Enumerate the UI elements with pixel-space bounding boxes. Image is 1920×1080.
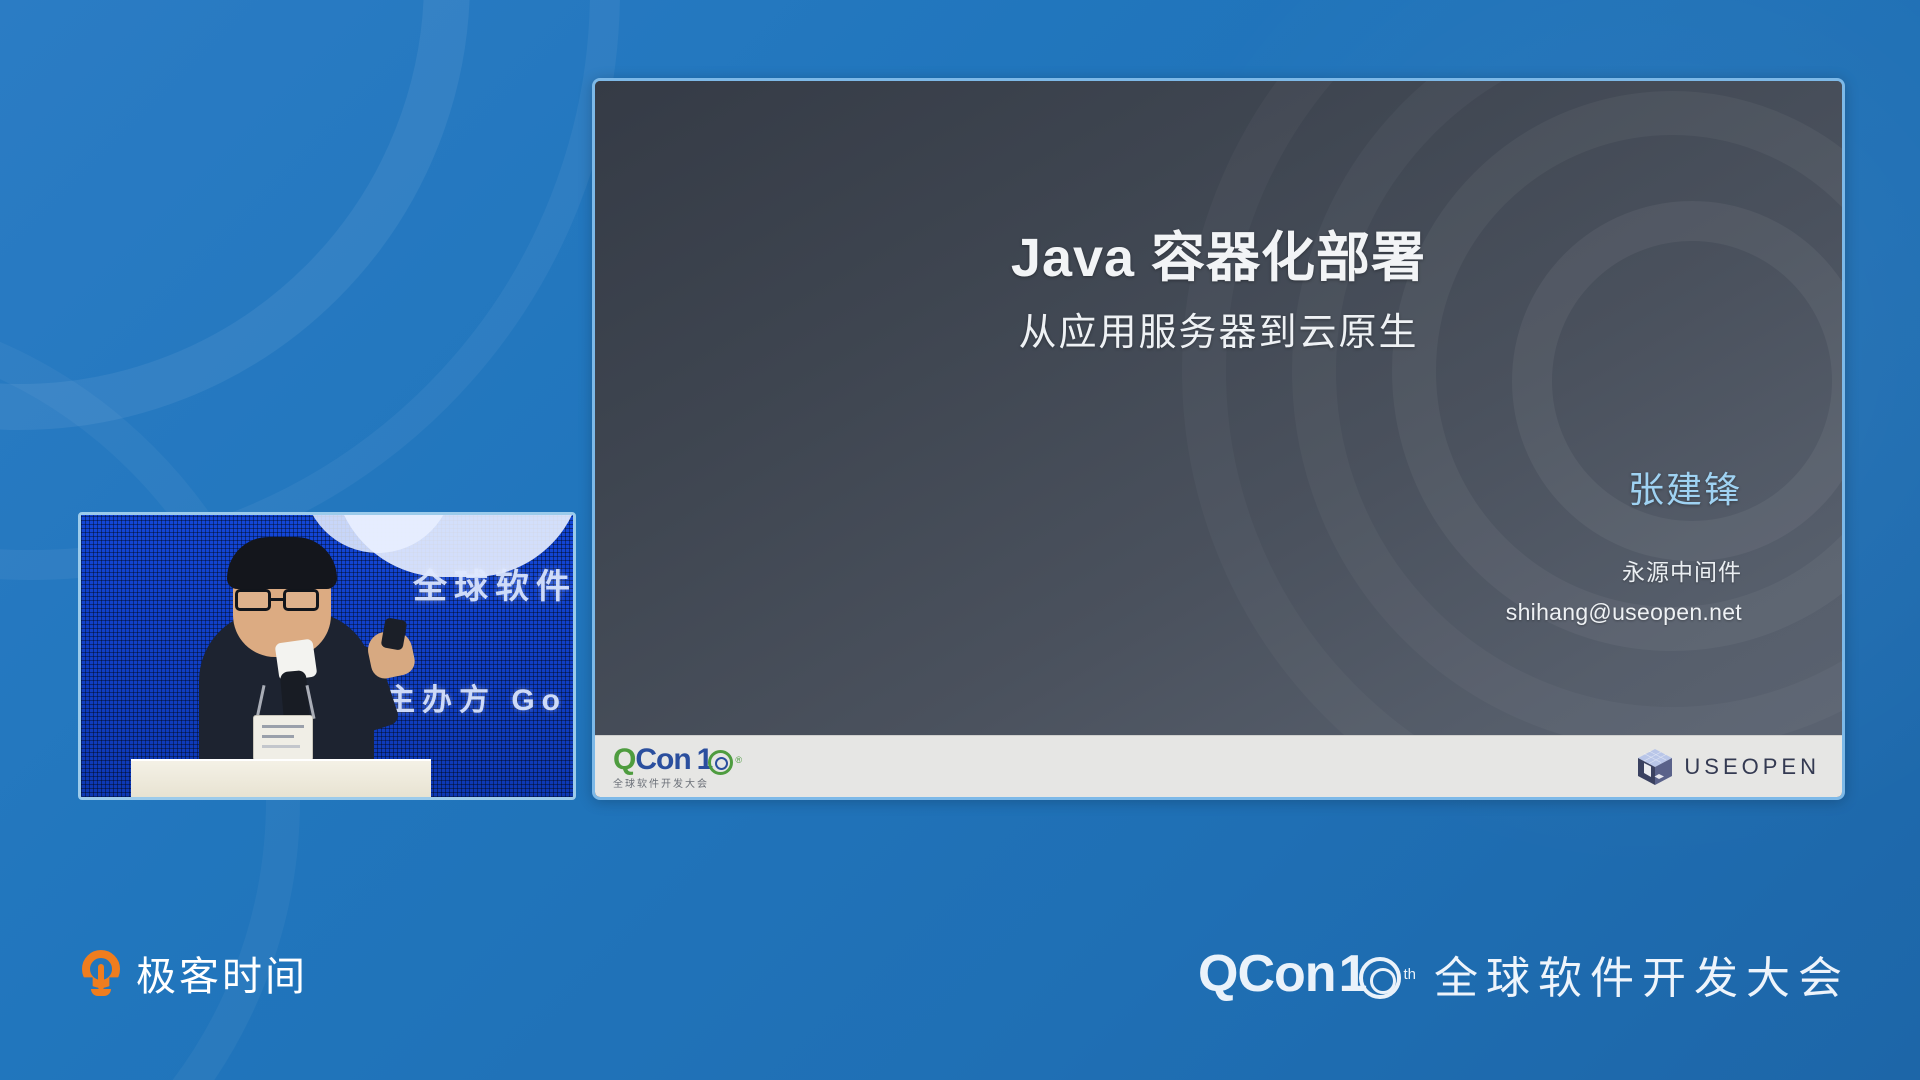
slide-subtitle: 从应用服务器到云原生 [595, 301, 1842, 356]
stage-screen-text-secondary: 主办方 Go [385, 675, 567, 719]
podium [131, 759, 431, 797]
geektime-label: 极客时间 [136, 944, 308, 1002]
registered-mark-icon: ® [735, 755, 742, 765]
speaker-badge [253, 715, 313, 761]
page-root: Java 容器化部署 从应用服务器到云原生 张建锋 永源中间件 shihang@… [0, 0, 1920, 1080]
slide-canvas: Java 容器化部署 从应用服务器到云原生 张建锋 永源中间件 shihang@… [595, 81, 1842, 797]
background-arc-icon [0, 0, 620, 580]
qcon-tagline: 全球软件开发大会 [613, 775, 709, 790]
video-frame: 全球软件 主办方 Go [81, 515, 573, 797]
bulb-base [91, 989, 111, 996]
presenter-email: shihang@useopen.net [1506, 595, 1742, 630]
slide-watermark-arc-icon [1182, 81, 1842, 797]
bottom-branding-bar: 极客时间 QCon 1 th 全球软件开发大会 [0, 890, 1920, 1080]
presenter-name: 张建锋 [1506, 463, 1742, 517]
qcon-logo-row: Q Con 1 ® [613, 743, 742, 777]
presentation-slide[interactable]: Java 容器化部署 从应用服务器到云原生 张建锋 永源中间件 shihang@… [592, 78, 1845, 800]
qcon-q-letter: Q [613, 743, 635, 777]
bulb-stem [98, 964, 104, 990]
stage-screen-text-primary: 全球软件 [413, 559, 573, 608]
slide-watermark-arc-icon [1292, 81, 1842, 751]
lens-bridge [271, 598, 283, 601]
slide-footer: Q Con 1 ® 全球软件开发大会 [595, 735, 1842, 797]
speaker-hair [227, 537, 337, 589]
speaker-video-thumbnail[interactable]: 全球软件 主办方 Go [78, 512, 576, 800]
geektime-logo: 极客时间 [80, 944, 308, 1002]
qcon-ring-icon [1359, 957, 1401, 999]
badge-text-line [262, 725, 304, 728]
lens-left [235, 589, 271, 611]
slide-title: Java 容器化部署 [595, 213, 1842, 292]
qcon-chinese-name: 全球软件开发大会 [1434, 942, 1850, 1006]
useopen-wordmark: USEOPEN [1684, 754, 1820, 780]
badge-text-line [262, 745, 300, 748]
lens-right [283, 589, 319, 611]
presenter-info: 张建锋 永源中间件 shihang@useopen.net [1506, 463, 1742, 629]
badge-text-line [262, 735, 294, 738]
qcon-con-letters: Con [635, 743, 690, 777]
cube-icon [1635, 747, 1675, 787]
qcon-logo-small: Q Con 1 ® 全球软件开发大会 [613, 743, 742, 790]
qcon-ring-icon [708, 750, 733, 775]
qcon-wordmark: QCon [1198, 944, 1336, 1004]
qcon-brand-logo: QCon 1 th 全球软件开发大会 [1198, 942, 1850, 1006]
useopen-logo: USEOPEN [1635, 747, 1820, 787]
background-arc-icon [0, 0, 470, 430]
qcon-ordinal-suffix: th [1403, 966, 1416, 983]
geektime-bulb-icon [80, 950, 122, 996]
eyeglasses-icon [233, 589, 329, 611]
presenter-organization: 永源中间件 [1506, 555, 1742, 590]
